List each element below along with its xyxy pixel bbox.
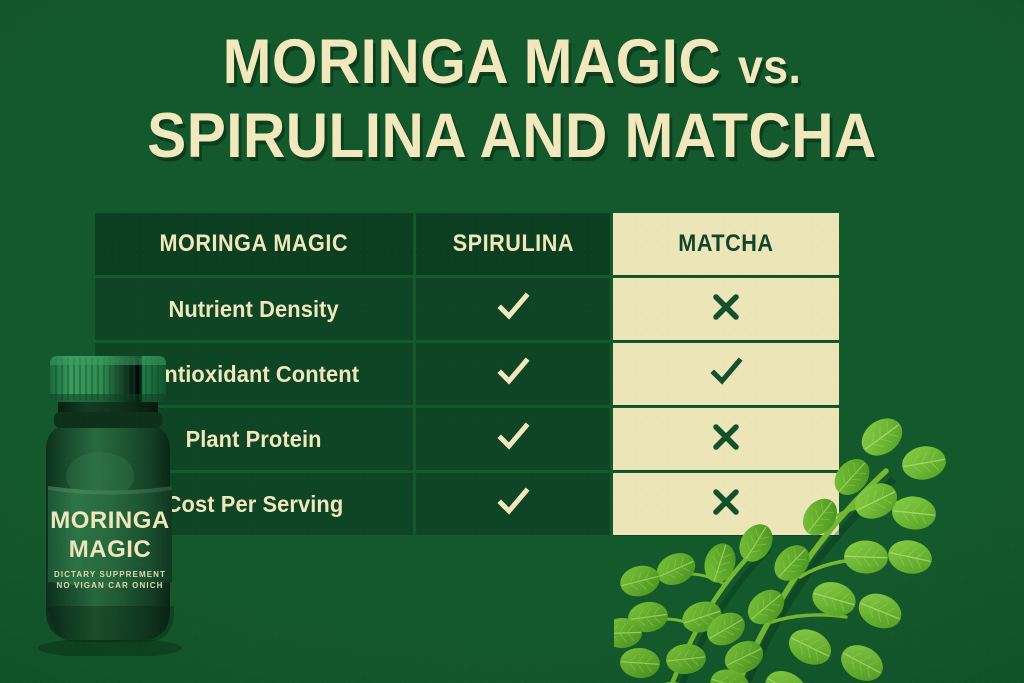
moringa-leaves-decoration	[614, 367, 1024, 683]
title-line-1: MORINGA MAGIC vs.	[36, 28, 988, 102]
title-vs-text: vs.	[738, 41, 801, 94]
header-label-spirulina: SPIRULINA	[452, 230, 573, 258]
infographic-canvas: MORINGA MAGIC vs. SPIRULINA AND MATCHA M…	[0, 0, 1024, 683]
row-spirulina-cell	[416, 343, 610, 405]
product-bottle: MORINGA MAGIC DICTARY SUPPREMENT NO VIGA…	[28, 356, 188, 656]
bottle-brand-line2: MAGIC	[69, 536, 152, 563]
check-icon	[493, 287, 533, 332]
row-spirulina-cell	[416, 473, 610, 535]
title-main-text: MORINGA MAGIC	[223, 27, 722, 97]
bottle-fineprint-line1: DICTARY SUPPREMENT	[54, 570, 166, 579]
table-header-row: MORINGA MAGIC SPIRULINA MATCHA	[95, 213, 839, 275]
check-icon	[493, 352, 533, 397]
cross-icon	[709, 290, 743, 329]
header-label-moringa: MORINGA MAGIC	[160, 230, 349, 258]
page-title: MORINGA MAGIC vs. SPIRULINA AND MATCHA	[0, 28, 1024, 170]
title-line-2: SPIRULINA AND MATCHA	[36, 102, 988, 170]
header-cell-matcha: MATCHA	[613, 213, 839, 275]
header-label-matcha: MATCHA	[678, 230, 773, 258]
header-cell-moringa: MORINGA MAGIC	[95, 213, 413, 275]
check-icon	[493, 417, 533, 462]
row-label-cell: Nutrient Density	[95, 278, 413, 340]
row-label: Nutrient Density	[169, 296, 339, 323]
bottle-fineprint-line2: NO VIGAN CAR ONICH	[57, 581, 164, 590]
header-cell-spirulina: SPIRULINA	[416, 213, 610, 275]
row-matcha-cell	[613, 278, 839, 340]
row-label: Cost Per Serving	[165, 491, 343, 518]
row-spirulina-cell	[416, 278, 610, 340]
row-label: Plant Protein	[186, 426, 322, 453]
check-icon	[493, 482, 533, 527]
table-row: Nutrient Density	[95, 278, 839, 340]
row-spirulina-cell	[416, 408, 610, 470]
bottle-brand-line1: MORINGA	[50, 507, 170, 534]
